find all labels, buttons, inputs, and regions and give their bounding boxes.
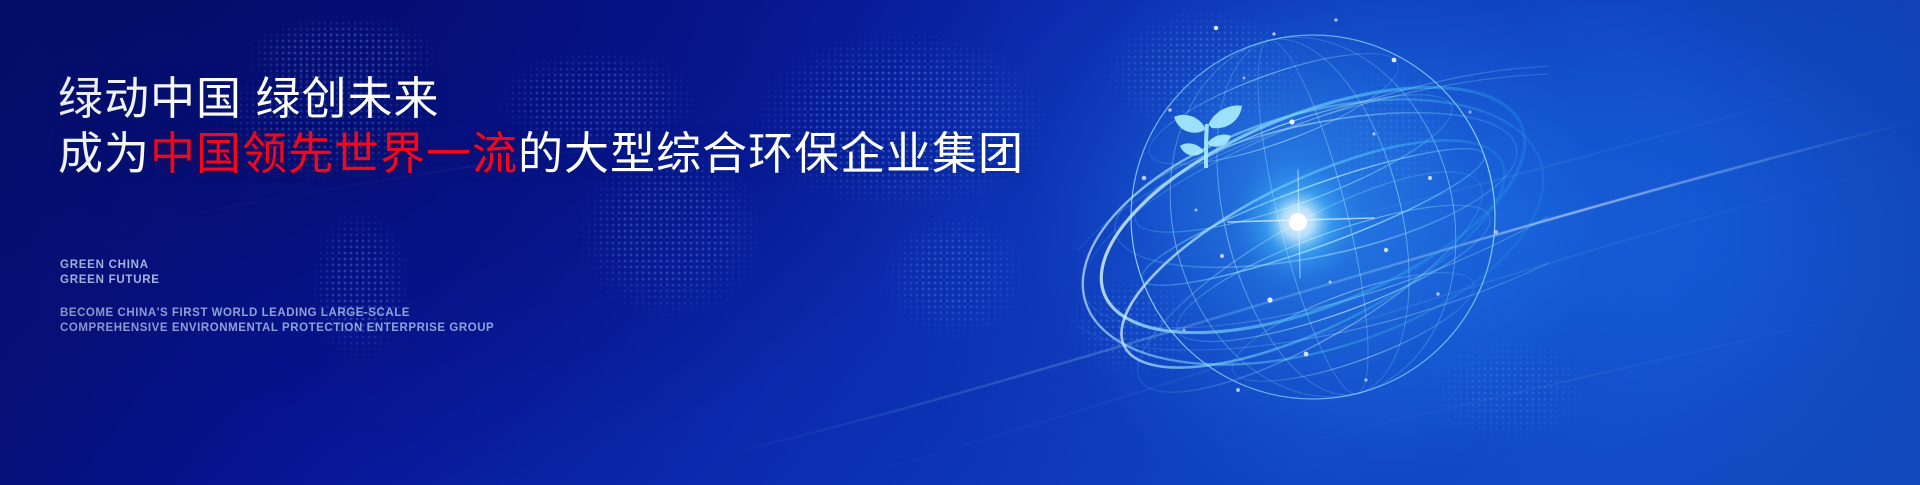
headline-line-2-suffix: 的大型综合环保企业集团 bbox=[518, 128, 1024, 179]
slogan-english: GREEN CHINA GREEN FUTURE bbox=[60, 258, 160, 288]
hero-banner: 绿动中国 绿创未来 成为中国领先世界一流的大型综合环保企业集团 GREEN CH… bbox=[0, 0, 1920, 485]
description-line-1: BECOME CHINA'S FIRST WORLD LEADING LARGE… bbox=[60, 306, 494, 321]
headline-line-2-highlight: 中国领先世界一流 bbox=[150, 128, 518, 179]
description-line-2: COMPREHENSIVE ENVIRONMENTAL PROTECTION E… bbox=[60, 321, 494, 336]
slogan-line-2: GREEN FUTURE bbox=[60, 273, 160, 288]
globe-outer-glow bbox=[968, 0, 1658, 485]
headline-line-2-prefix: 成为 bbox=[58, 128, 150, 179]
wireframe-globe bbox=[1078, 0, 1548, 452]
slogan-line-1: GREEN CHINA bbox=[60, 258, 160, 273]
sprout-leaf-icon bbox=[1160, 90, 1246, 176]
description-english: BECOME CHINA'S FIRST WORLD LEADING LARGE… bbox=[60, 306, 494, 336]
headline-block: 绿动中国 绿创未来 成为中国领先世界一流的大型综合环保企业集团 bbox=[58, 72, 1058, 180]
headline-line-1: 绿动中国 绿创未来 bbox=[58, 72, 1058, 125]
headline-line-2: 成为中国领先世界一流的大型综合环保企业集团 bbox=[58, 127, 1058, 180]
